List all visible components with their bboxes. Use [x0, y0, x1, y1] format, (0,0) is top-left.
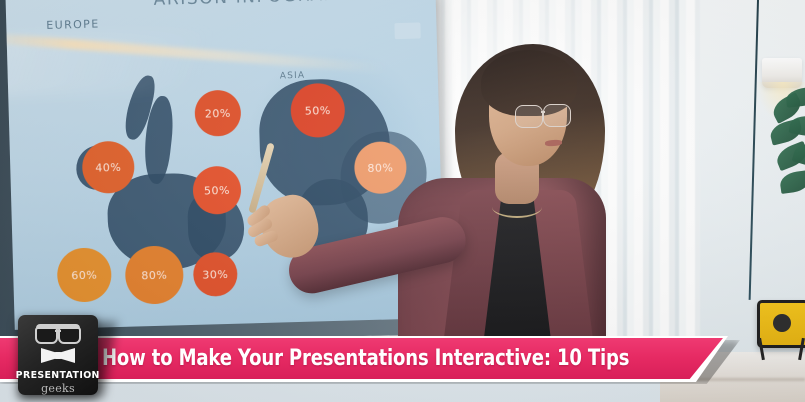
eyeglasses-left-lens	[515, 105, 543, 128]
eyeglasses-bridge	[541, 111, 545, 113]
eyeglasses-right-lens	[543, 104, 571, 127]
glasses-icon	[35, 324, 81, 339]
logo-subwordmark: geeks	[41, 382, 75, 395]
bowtie-icon	[41, 348, 75, 362]
hero-image: ARISON INFOGRAPHIC EUROPE ASIA 20% 40% 5…	[0, 0, 805, 402]
title-banner: How to Make Your Presentations Interacti…	[0, 336, 805, 388]
necklace	[492, 196, 542, 218]
presentation-geeks-logo[interactable]: PRESENTATION geeks	[18, 315, 98, 395]
banner-title-text: How to Make Your Presentations Interacti…	[102, 346, 629, 371]
logo-wordmark: PRESENTATION	[16, 370, 100, 381]
